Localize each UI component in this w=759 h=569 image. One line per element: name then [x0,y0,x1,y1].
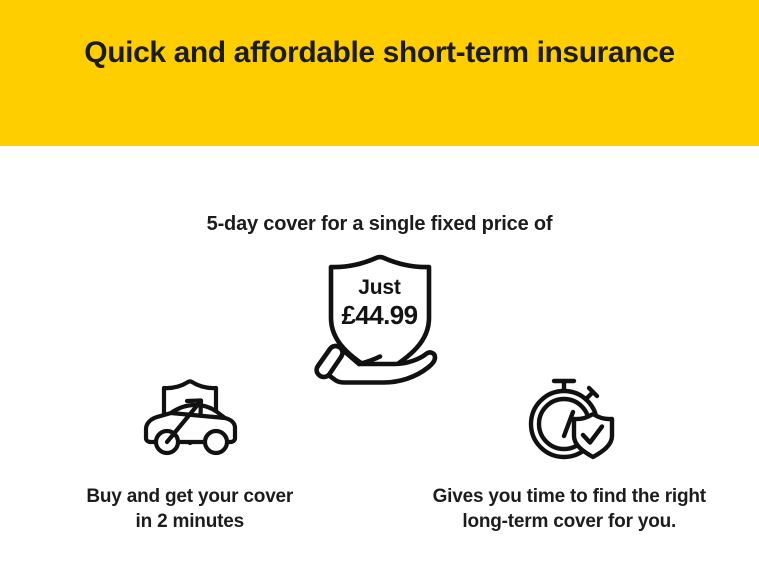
main-content: 5-day cover for a single fixed price of … [0,146,759,569]
stopwatch-shield-check-icon [521,374,617,462]
clipped-title-above: Tempcover [0,0,759,2]
feature-item-quick-buy: Buy and get your cover in 2 minutes [0,376,380,534]
feature-list: Buy and get your cover in 2 minutes [0,376,759,534]
feature-item-time-to-choose: Gives you time to find the right long-te… [380,376,759,534]
car-shield-arrow-icon [140,378,240,462]
hero-banner: Tempcover Quick and affordable short-ter… [0,0,759,146]
cover-price-lede: 5-day cover for a single fixed price of [0,211,759,237]
price-badge: Just £44.99 [310,254,450,390]
shield-in-hand-icon [310,254,450,390]
feature-caption: Buy and get your cover in 2 minutes [86,484,293,534]
page-title: Quick and affordable short-term insuranc… [0,34,759,72]
feature-caption: Gives you time to find the right long-te… [433,484,706,534]
